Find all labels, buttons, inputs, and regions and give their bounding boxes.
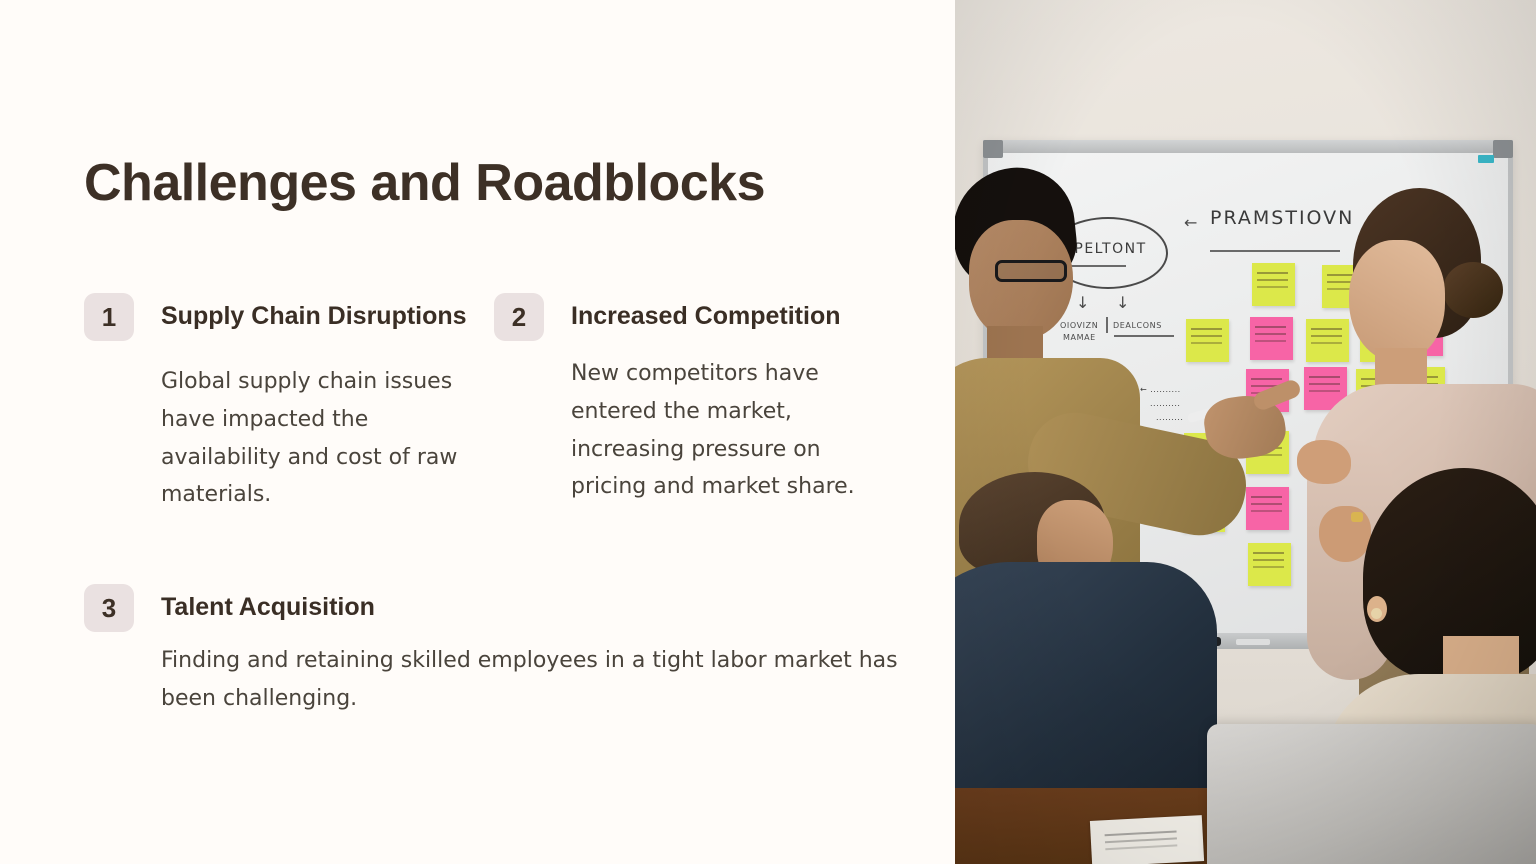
sticky-note	[1186, 319, 1229, 362]
item-number-badge: 2	[494, 293, 544, 341]
items-list: 1 Supply Chain Disruptions Global supply…	[0, 0, 955, 864]
list-item: 3 Talent Acquisition Finding and retaini…	[84, 584, 884, 718]
whiteboard-note-line: ..........	[1150, 399, 1180, 408]
item-heading: Supply Chain Disruptions	[161, 293, 467, 334]
glasses-icon	[995, 260, 1067, 282]
sticky-note	[1252, 263, 1295, 306]
whiteboard-sticker	[1478, 155, 1494, 163]
item-heading: Talent Acquisition	[161, 584, 375, 625]
item-header: 2 Increased Competition	[494, 293, 894, 341]
whiteboard-top-frame	[983, 140, 1513, 153]
item-body-text: Finding and retaining skilled employees …	[161, 642, 941, 718]
list-item: 1 Supply Chain Disruptions Global supply…	[84, 293, 484, 514]
item-header: 1 Supply Chain Disruptions	[84, 293, 484, 341]
laptop-icon	[1207, 724, 1536, 864]
item-body-text: Global supply chain issues have impacted…	[161, 363, 491, 514]
whiteboard-arrow-icon: ←	[1184, 213, 1197, 232]
item-number-badge: 3	[84, 584, 134, 632]
hand	[1297, 440, 1351, 484]
item-heading: Increased Competition	[571, 293, 841, 334]
whiteboard-arrow-down-icon: ↓	[1116, 293, 1129, 312]
paper-document	[1090, 815, 1204, 864]
whiteboard-note-line: ← ..........	[1140, 385, 1181, 394]
face	[1349, 240, 1445, 362]
whiteboard-note-line: .........	[1156, 413, 1183, 422]
whiteboard-underline	[1210, 250, 1340, 252]
whiteboard-underline	[1114, 335, 1174, 337]
item-header: 3 Talent Acquisition	[84, 584, 884, 632]
slide: Challenges and Roadblocks 1 Supply Chain…	[0, 0, 1536, 864]
whiteboard-corner-icon	[983, 140, 1003, 158]
hair-bun	[1443, 262, 1503, 318]
whiteboard-corner-icon	[1493, 140, 1513, 158]
item-number-badge: 1	[84, 293, 134, 341]
whiteboard-small-label: DEALCONS	[1113, 321, 1162, 330]
content-panel: Challenges and Roadblocks 1 Supply Chain…	[0, 0, 955, 864]
sticky-note	[1250, 317, 1293, 360]
list-item: 2 Increased Competition New competitors …	[494, 293, 894, 506]
meeting-photo: SPELTONT ← PRAMSTIOVN ↓ ↓ OIOVIZN DEALCO…	[955, 0, 1536, 864]
earring-icon	[1371, 608, 1382, 619]
item-body-text: New competitors have entered the market,…	[571, 355, 901, 506]
